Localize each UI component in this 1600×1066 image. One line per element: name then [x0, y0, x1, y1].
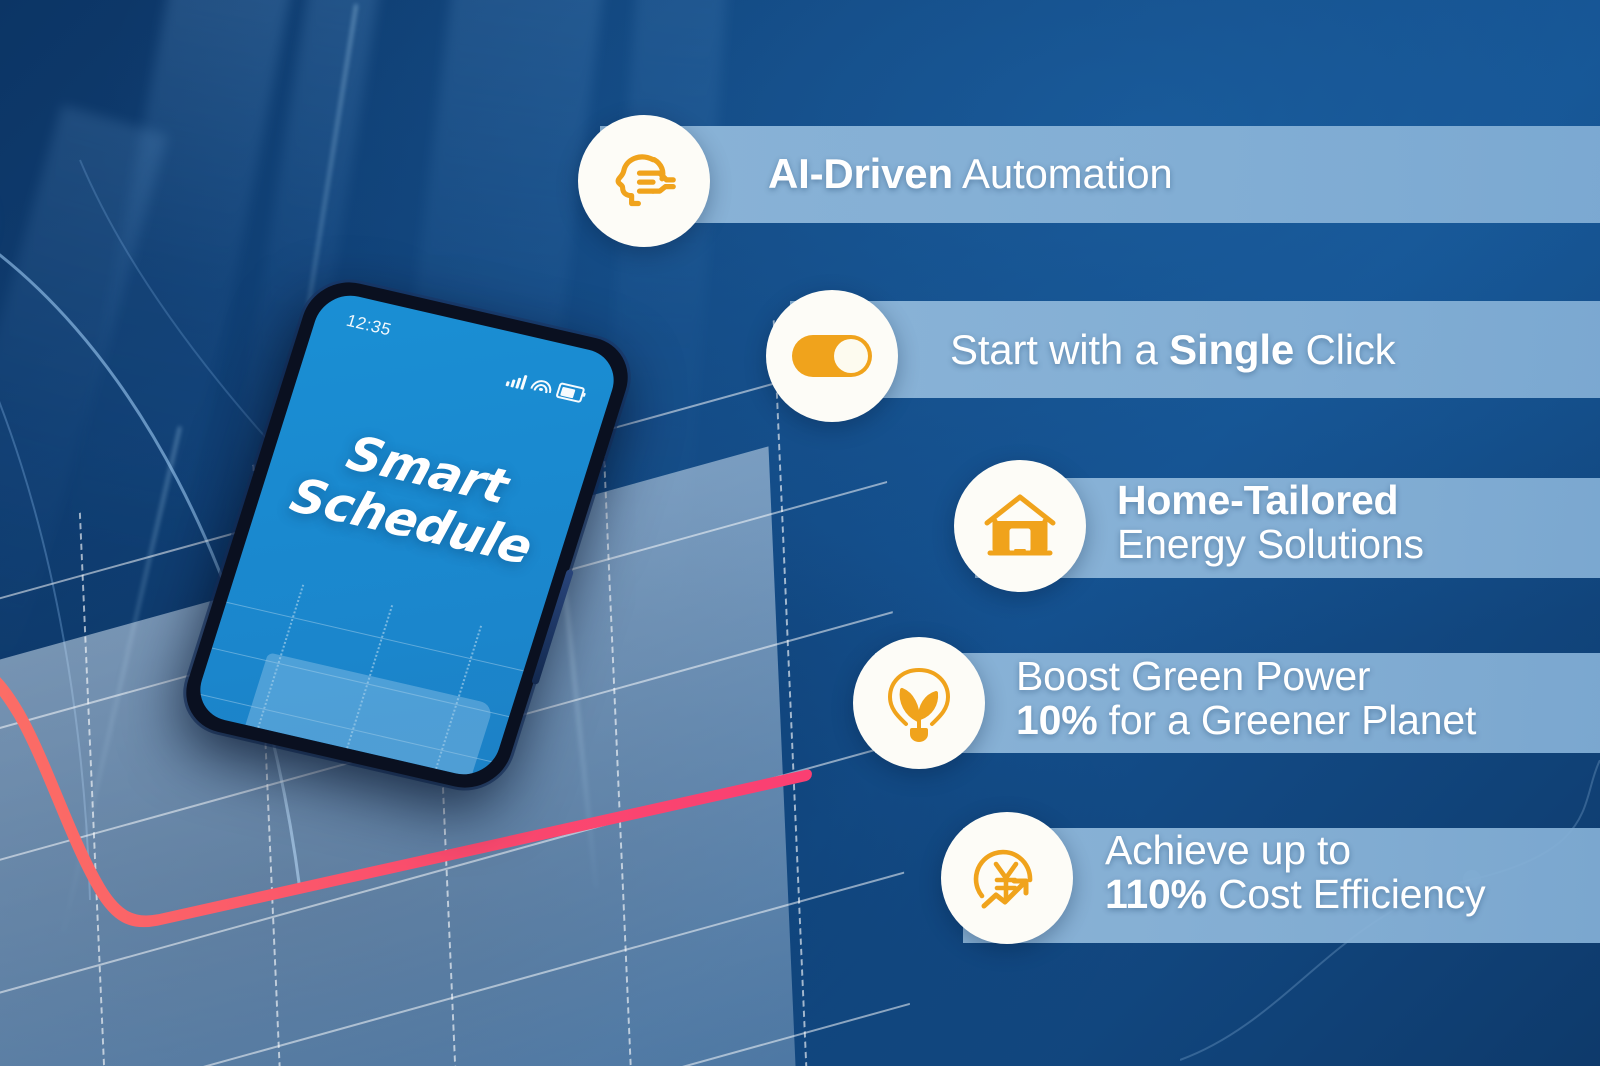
feature-5-rest: Achieve up to [1105, 827, 1351, 873]
green-plant-plug-icon[interactable] [853, 637, 985, 769]
feature-4-bold: 10% [1016, 697, 1097, 743]
feature-text-4: Boost Green Power 10% for a Greener Plan… [1016, 654, 1476, 743]
feature-text-5: Achieve up to 110% Cost Efficiency [1105, 828, 1485, 917]
phone-app-title: Smart Schedule [254, 411, 583, 582]
cellular-signal-icon [505, 372, 527, 390]
feature-text-2: Start with a Single Click [950, 327, 1395, 372]
feature-1-bold: AI-Driven [768, 150, 953, 197]
feature-1-rest: Automation [953, 150, 1173, 197]
feature-2-bold: Single [1169, 326, 1294, 373]
feature-5-bold: 110% [1105, 871, 1207, 917]
feature-2-rest2: Click [1294, 326, 1395, 373]
feature-2-rest: Start with a [950, 326, 1169, 373]
infographic-canvas: 12:35 Smart Schedule [0, 0, 1600, 1066]
feature-5-rest2: Cost Efficiency [1207, 871, 1486, 917]
feature-4-rest: Boost Green Power [1016, 653, 1370, 699]
phone-mini-chart [192, 569, 534, 781]
battery-icon [555, 382, 585, 403]
feature-text-1: AI-Driven Automation [768, 151, 1173, 196]
ai-head-icon[interactable] [578, 115, 710, 247]
feature-4-rest2: for a Greener Planet [1097, 697, 1476, 743]
feature-3-bold: Home-Tailored [1117, 477, 1398, 523]
smartphone-mockup: 12:35 Smart Schedule [175, 274, 639, 797]
home-icon[interactable] [954, 460, 1086, 592]
status-time: 12:35 [344, 311, 394, 340]
phone-screen: 12:35 Smart Schedule [192, 289, 623, 781]
wifi-icon [531, 378, 552, 395]
feature-3-rest: Energy Solutions [1117, 521, 1424, 567]
toggle-switch-icon[interactable] [766, 290, 898, 422]
yen-growth-icon[interactable] [941, 812, 1073, 944]
feature-text-3: Home-Tailored Energy Solutions [1117, 478, 1424, 567]
